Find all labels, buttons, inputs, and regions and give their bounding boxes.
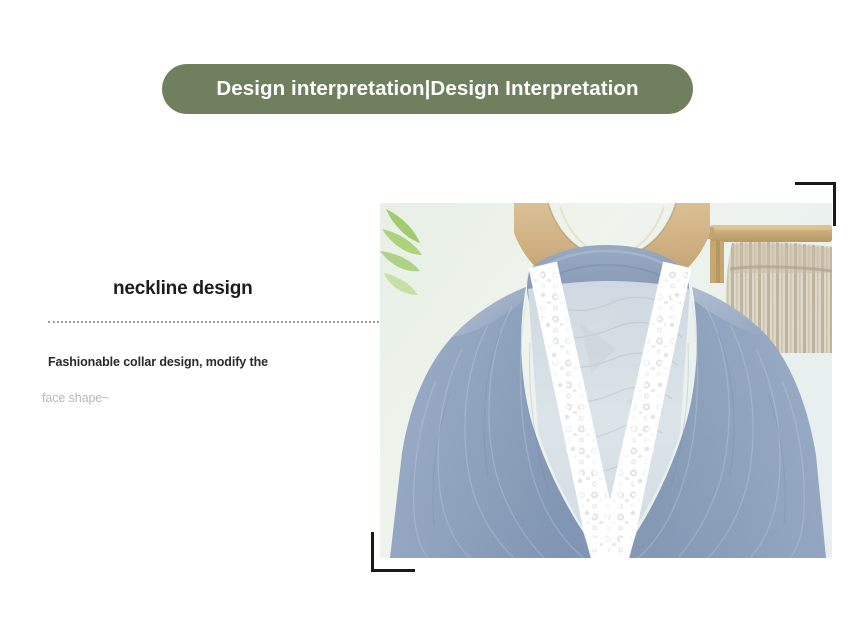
dotted-divider <box>48 321 379 323</box>
description-line-secondary: face shape~ <box>42 391 109 405</box>
page-title: neckline design <box>113 278 253 300</box>
product-photo <box>380 203 832 558</box>
description-line-primary: Fashionable collar design, modify the <box>48 355 268 369</box>
product-photo-illustration <box>380 203 832 558</box>
section-banner: Design interpretation|Design Interpretat… <box>162 64 693 114</box>
banner-title: Design interpretation|Design Interpretat… <box>216 77 638 101</box>
product-detail-page: Design interpretation|Design Interpretat… <box>0 0 852 639</box>
